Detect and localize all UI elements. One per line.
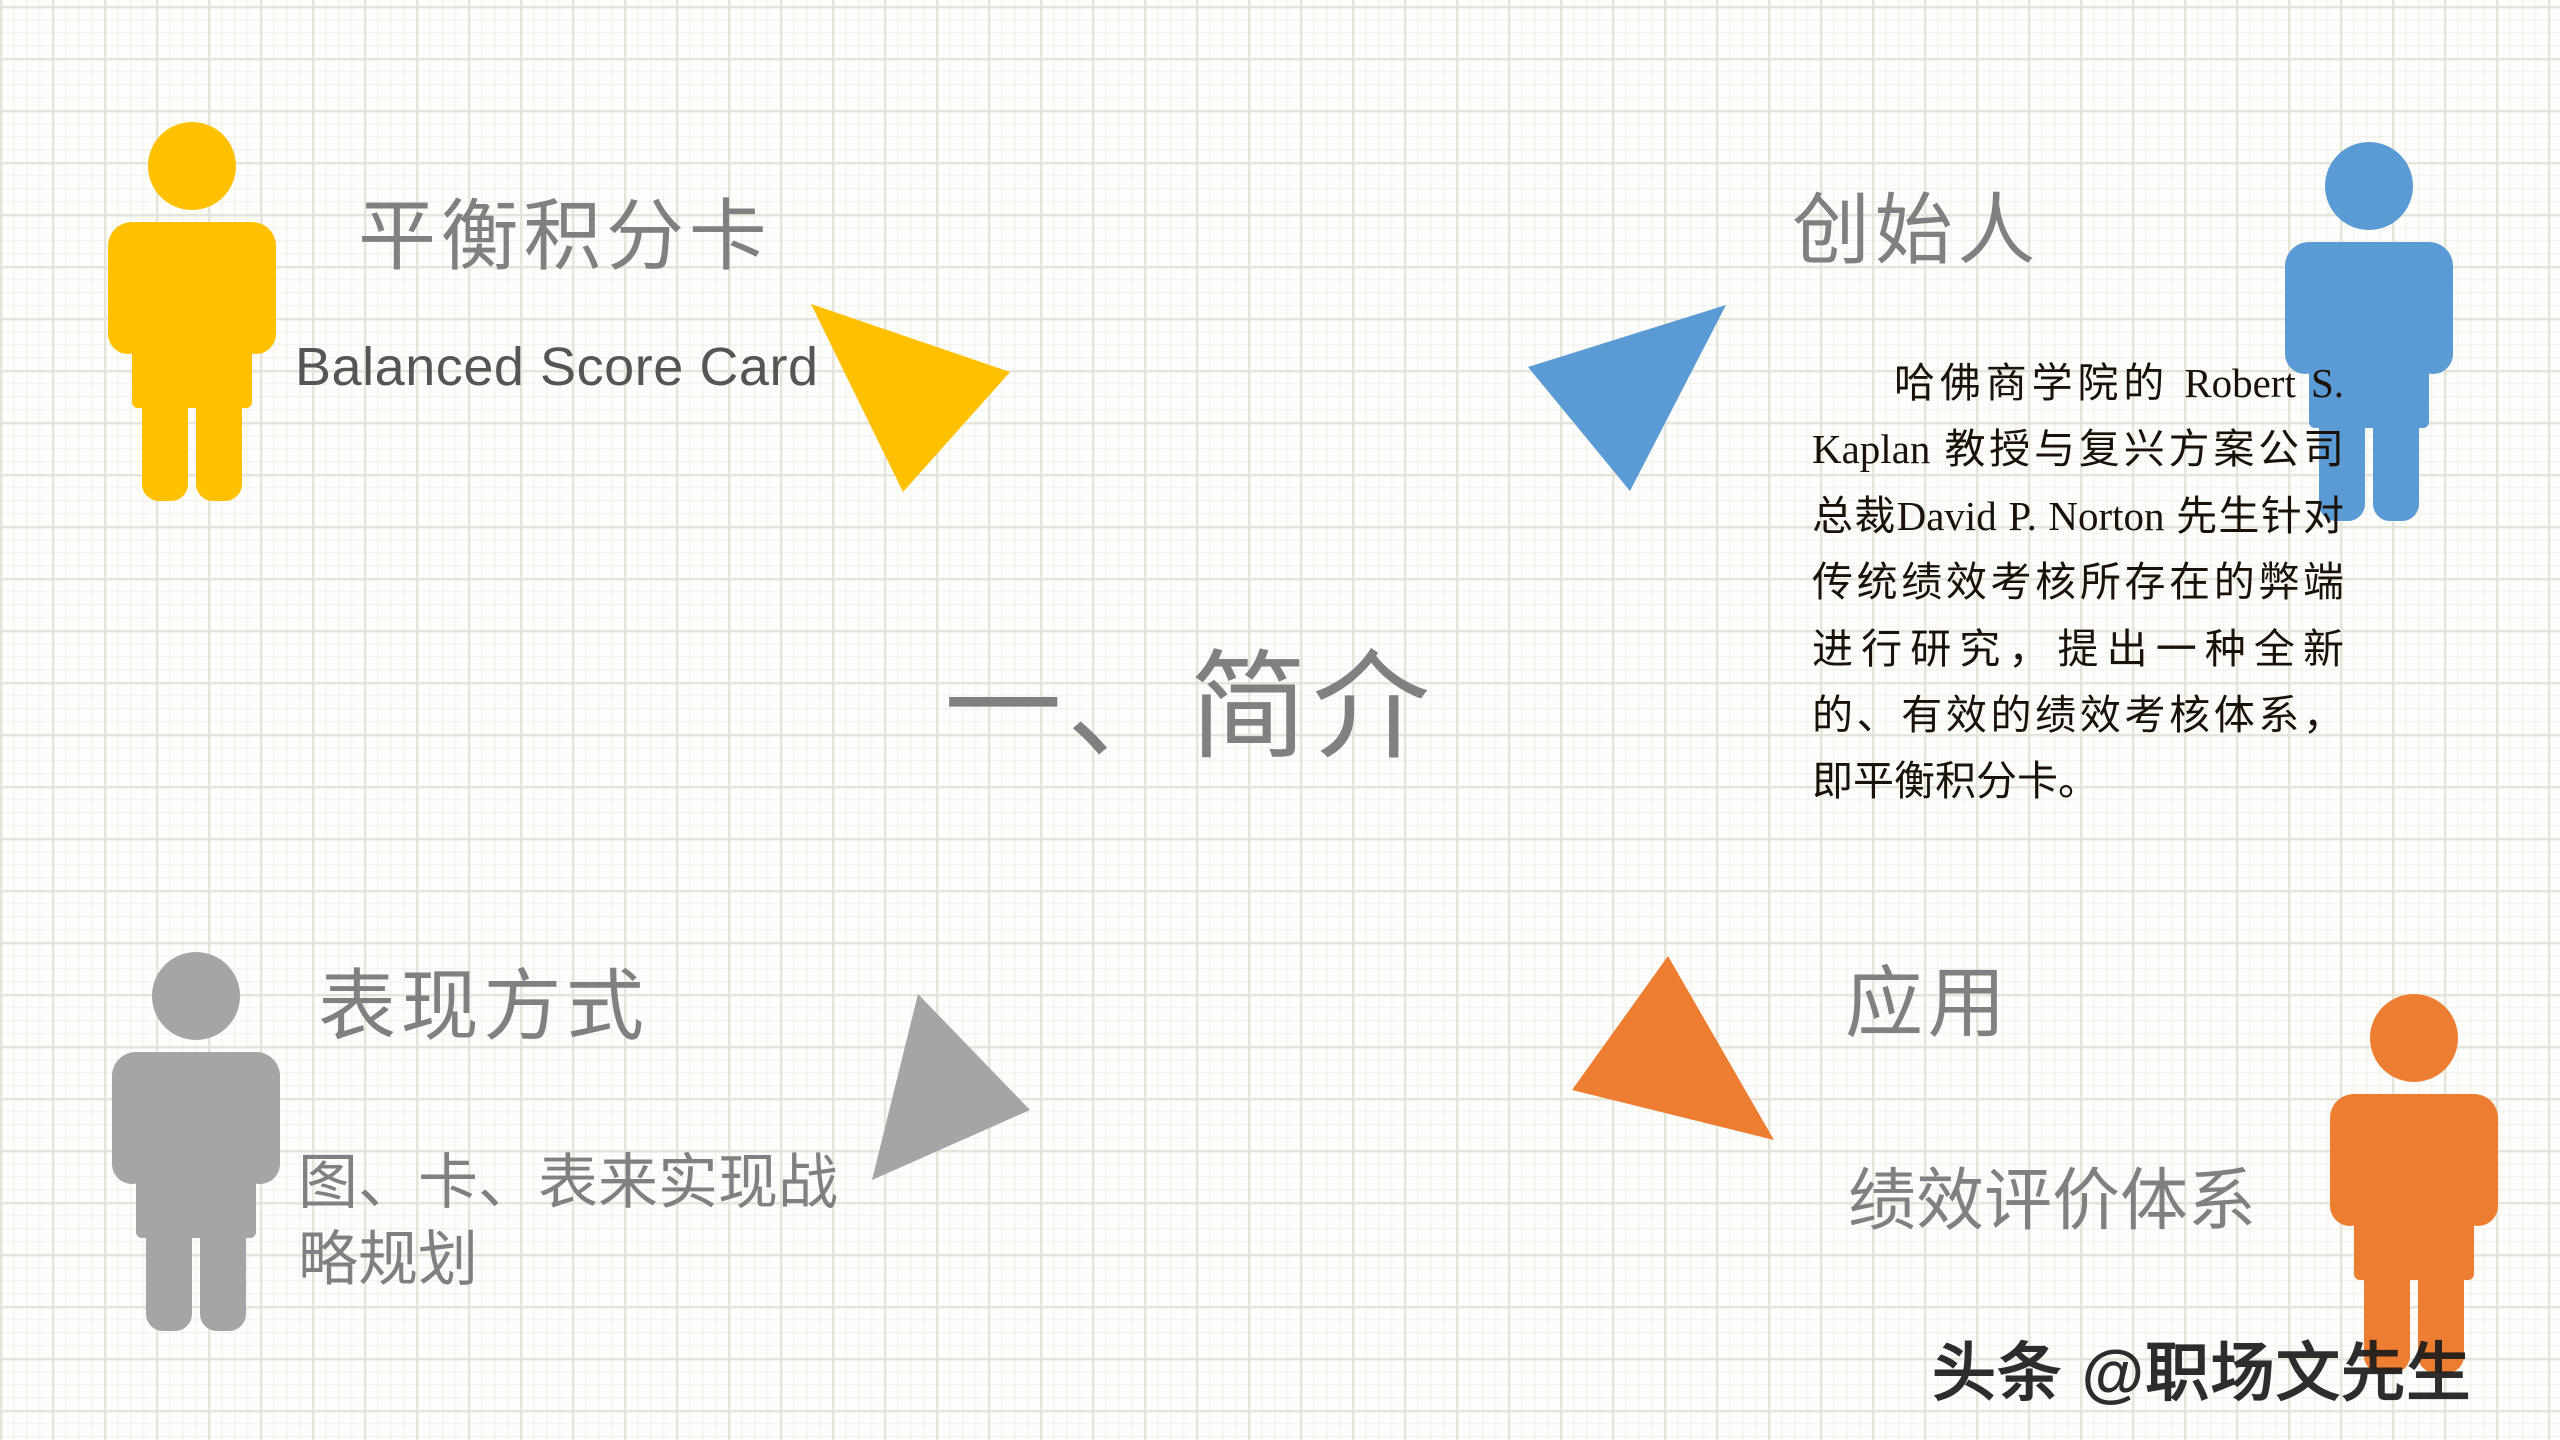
heading-founder: 创始人 [1792, 192, 2040, 270]
subtitle-balanced-score-card: Balanced Score Card [295, 340, 819, 394]
heading-presentation-method: 表现方式 [318, 968, 649, 1046]
person-icon-orange [2330, 990, 2498, 1378]
person-icon-gray [112, 948, 280, 1336]
paragraph-founder-description: 哈佛商学院的 Robert S. Kaplan 教授与复兴方案公司总裁David… [1812, 350, 2344, 815]
page-title: 一、简介 [944, 650, 1435, 768]
triangle-yellow [795, 290, 1025, 505]
heading-balanced-score-card: 平衡积分卡 [358, 198, 771, 276]
watermark-text: 头条 @职场文先生 [1932, 1322, 2472, 1414]
triangle-orange [1560, 950, 1785, 1150]
text-presentation-method-detail: 图、卡、表来实现战略规划 [298, 1145, 888, 1299]
person-icon-yellow [108, 118, 276, 506]
slide-canvas: 平衡积分卡 Balanced Score Card 创始人 哈佛商学院的 Rob… [0, 0, 2560, 1440]
triangle-blue [1518, 295, 1738, 505]
heading-application: 应用 [1845, 965, 2010, 1043]
triangle-gray [860, 988, 1040, 1188]
